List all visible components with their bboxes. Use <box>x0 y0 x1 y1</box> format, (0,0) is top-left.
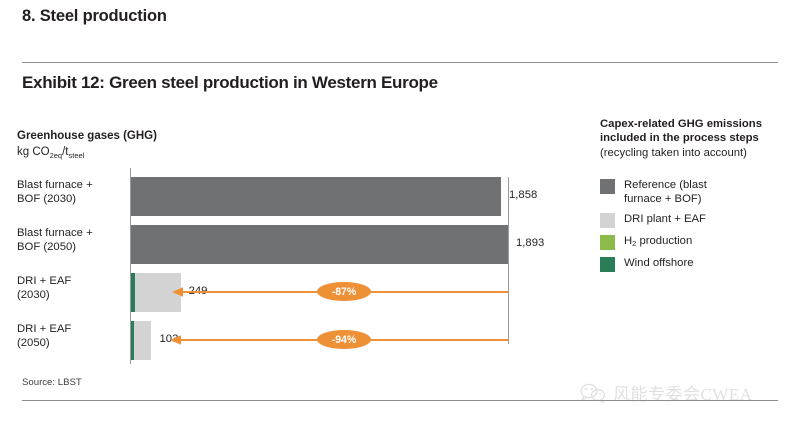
bar-blast-furnace-2030 <box>131 177 501 216</box>
legend-title-line2: included in the process steps <box>600 132 759 144</box>
legend-label-prefix: H <box>624 235 632 247</box>
page-title: 8. Steel production <box>22 7 167 26</box>
category-label: Blast furnace + BOF (2030) <box>17 178 125 206</box>
legend-swatch-wind-offshore <box>600 257 615 272</box>
axis-unit-prefix: kg CO <box>17 146 50 158</box>
legend-label-dri-plant-eaf: DRI plant + EAF <box>624 212 706 226</box>
legend-swatch-h2-production <box>600 235 615 250</box>
legend-subtitle: (recycling taken into account) <box>600 146 796 160</box>
bar-blast-furnace-2050 <box>131 225 508 264</box>
delta-annotation-87: -87% <box>0 281 800 303</box>
legend-label-line2: furnace + BOF) <box>624 193 702 205</box>
legend-item-wind-offshore[interactable]: Wind offshore <box>600 256 796 272</box>
legend-label-reference: Reference (blast furnace + BOF) <box>624 178 707 206</box>
bar-value-label: 1,893 <box>516 237 544 249</box>
source-note: Source: LBST <box>22 377 82 388</box>
legend-title-line1: Capex-related GHG emissions <box>600 118 762 130</box>
legend-item-dri-plant-eaf[interactable]: DRI plant + EAF <box>600 212 796 228</box>
category-label-line1: Blast furnace + <box>17 227 93 239</box>
delta-badge: -94% <box>317 330 371 349</box>
axis-unit-title: Greenhouse gases (GHG) <box>17 129 157 143</box>
legend-label-subscript: 2 <box>632 239 636 248</box>
exhibit-title: Exhibit 12: Green steel production in We… <box>22 73 438 93</box>
watermark-text: 风能专委会CWEA <box>613 380 753 405</box>
delta-badge: -87% <box>317 282 371 301</box>
axis-unit-block: Greenhouse gases (GHG) kg CO2eq/tsteel <box>17 129 157 159</box>
arrow-line-icon <box>0 329 800 351</box>
category-label: Blast furnace + BOF (2050) <box>17 226 125 254</box>
axis-unit-subtitle: kg CO2eq/tsteel <box>17 145 157 159</box>
category-label-line2: BOF (2030) <box>17 193 76 205</box>
legend-label-wind-offshore: Wind offshore <box>624 256 694 270</box>
watermark: 风能专委会CWEA <box>578 380 753 405</box>
legend-label-h2-production: H2 production <box>624 234 692 248</box>
legend-label-suffix: production <box>636 235 692 247</box>
bar-segment <box>131 177 501 216</box>
bar-value-label: 1,858 <box>509 189 537 201</box>
bar-segment <box>131 225 508 264</box>
legend-title: Capex-related GHG emissions included in … <box>600 117 796 145</box>
legend-swatch-dri-plant-eaf <box>600 213 615 228</box>
axis-unit-mid: /t <box>62 146 68 158</box>
chart-legend: Capex-related GHG emissions included in … <box>600 117 796 278</box>
legend-label-line1: Reference (blast <box>624 179 707 191</box>
legend-item-reference[interactable]: Reference (blast furnace + BOF) <box>600 178 796 206</box>
divider-top <box>22 62 778 63</box>
legend-swatch-reference <box>600 179 615 194</box>
category-label-line1: Blast furnace + <box>17 179 93 191</box>
wechat-icon <box>578 382 608 404</box>
legend-items: Reference (blast furnace + BOF) DRI plan… <box>600 178 796 272</box>
delta-annotation-94: -94% <box>0 329 800 351</box>
legend-item-h2-production[interactable]: H2 production <box>600 234 796 250</box>
axis-unit-subscript-2: steel <box>69 151 85 160</box>
category-label-line2: BOF (2050) <box>17 241 76 253</box>
axis-unit-subscript-1: 2eq <box>50 151 63 160</box>
arrow-line-icon <box>0 281 800 303</box>
